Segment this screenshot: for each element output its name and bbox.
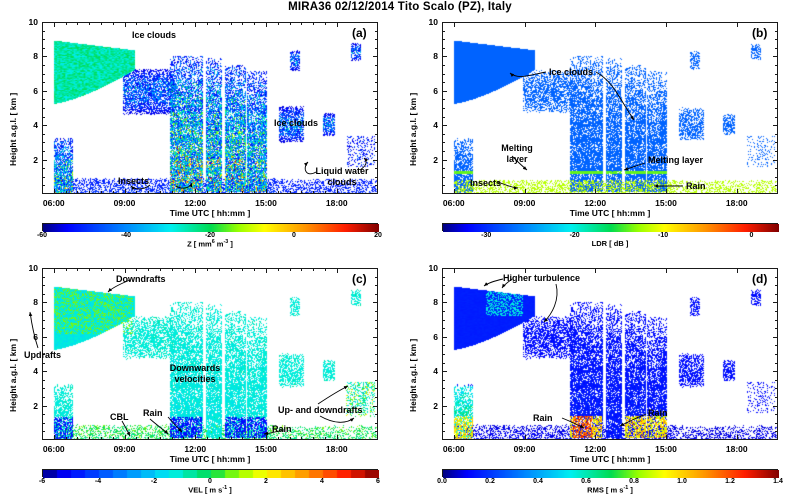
annotation-c-13[interactable]: Rain [143,408,163,419]
panel-a-xminor-top[interactable] [278,22,279,25]
panel-a-xminor-top[interactable] [290,22,291,25]
panel-d-ytick[interactable] [442,302,447,303]
panel-c-xtick[interactable] [54,435,55,440]
panel-a-xminor[interactable] [136,191,137,194]
panel-c-xminor[interactable] [301,437,302,440]
panel-d-ytick-label[interactable]: 2 [418,401,438,411]
panel-d-xtick-top[interactable] [737,268,738,273]
panel-b-xtick-label[interactable]: 15:00 [644,198,688,208]
panel-d-ytick-right[interactable] [773,302,778,303]
panel-b-xtick-top[interactable] [454,22,455,27]
panel-b-yminor-right[interactable] [775,99,778,100]
panel-d-xtick-top[interactable] [454,268,455,273]
panel-d-yminor[interactable] [442,294,445,295]
panel-a-yminor-right[interactable] [375,31,378,32]
panel-c-xminor[interactable] [290,437,291,440]
panel-a-yminor[interactable] [42,142,45,143]
panel-a-yminor[interactable] [42,185,45,186]
panel-b-yminor[interactable] [442,65,445,66]
panel-b-yminor-right[interactable] [775,177,778,178]
panel-d-ytick[interactable] [442,337,447,338]
panel-a-yminor-right[interactable] [375,48,378,49]
panel-c-yminor[interactable] [42,285,45,286]
panel-b-yminor-right[interactable] [775,168,778,169]
panel-b-yminor[interactable] [442,168,445,169]
colorbar-d-tick-label[interactable]: 1.2 [710,478,750,485]
annotation-c-15[interactable]: Up- and downdrafts [278,405,363,416]
panel-c-xtick[interactable] [266,435,267,440]
panel-d-yminor[interactable] [442,328,445,329]
panel-a-xminor[interactable] [254,191,255,194]
annotation-c-14[interactable]: Rain [272,424,292,435]
panel-b-ytick[interactable] [442,125,447,126]
panel-a-xminor[interactable] [101,191,102,194]
panel-b-yminor[interactable] [442,134,445,135]
panel-d-ytick-label[interactable]: 4 [418,366,438,376]
panel-d-yminor-right[interactable] [775,311,778,312]
panel-a-yminor[interactable] [42,177,45,178]
panel-b-xtick[interactable] [595,189,596,194]
panel-d-yminor[interactable] [442,320,445,321]
panel-a-xtick-top[interactable] [54,22,55,27]
panel-d-xtick[interactable] [525,435,526,440]
panel-c-yminor[interactable] [42,431,45,432]
panel-a-xtick[interactable] [337,189,338,194]
panel-d-yminor[interactable] [442,431,445,432]
annotation-b-4[interactable]: Ice clouds [549,67,593,78]
panel-a-yminor[interactable] [42,31,45,32]
panel-a-xminor-top[interactable] [113,22,114,25]
panel-d-yminor[interactable] [442,388,445,389]
panel-a-yminor-right[interactable] [375,134,378,135]
panel-d-ytick-right[interactable] [773,406,778,407]
panel-c-xminor[interactable] [254,437,255,440]
panel-d-xtick-label[interactable]: 12:00 [573,444,617,454]
panel-a-xminor[interactable] [66,191,67,194]
panel-b-xtick-top[interactable] [666,22,667,27]
panel-d-xtick-label[interactable]: 15:00 [644,444,688,454]
panel-c-xminor-top[interactable] [148,268,149,271]
panel-a-xminor[interactable] [172,191,173,194]
panel-a-xminor[interactable] [148,191,149,194]
panel-b-yminor-right[interactable] [775,74,778,75]
panel-d-ytick[interactable] [442,268,447,269]
panel-c-yminor-right[interactable] [375,380,378,381]
panel-d-ytick-label[interactable]: 6 [418,332,438,342]
panel-d-ytick-right[interactable] [773,337,778,338]
panel-d-xtick-top[interactable] [595,268,596,273]
panel-a-yminor[interactable] [42,82,45,83]
panel-b-yminor-right[interactable] [775,151,778,152]
panel-c-xtick[interactable] [125,435,126,440]
panel-c-ytick-label[interactable]: 6 [18,332,38,342]
panel-b-yminor-right[interactable] [775,39,778,40]
panel-a-xminor[interactable] [160,191,161,194]
panel-d-ytick-label[interactable]: 8 [418,297,438,307]
panel-a-ytick-label[interactable]: 8 [18,51,38,61]
panel-d-xtick[interactable] [454,435,455,440]
panel-a-xtick-top[interactable] [125,22,126,27]
panel-a-xtick[interactable] [125,189,126,194]
panel-a-xminor-top[interactable] [207,22,208,25]
panel-c-xtick-label[interactable]: 18:00 [315,444,359,454]
colorbar-c-tick-label[interactable]: 6 [358,478,398,485]
panel-b-yminor[interactable] [442,31,445,32]
panel-c-yminor[interactable] [42,328,45,329]
panel-c-xminor-top[interactable] [77,268,78,271]
panel-b-xtick-top[interactable] [595,22,596,27]
panel-b-xtick-label[interactable]: 09:00 [503,198,547,208]
colorbar-d-tick-label[interactable]: 1.4 [758,478,798,485]
panel-b-ytick[interactable] [442,22,447,23]
panel-d-plot-area[interactable] [442,268,778,440]
panel-b-ytick-label[interactable]: 4 [418,120,438,130]
colorbar-d-tick-label[interactable]: 0.6 [566,478,606,485]
panel-a-xminor-top[interactable] [231,22,232,25]
panel-c-yminor-right[interactable] [375,388,378,389]
panel-c-xminor-top[interactable] [42,268,43,271]
panel-c-xminor-top[interactable] [301,268,302,271]
panel-b-ytick-label[interactable]: 10 [418,17,438,27]
panel-c-xminor[interactable] [313,437,314,440]
panel-c-yminor-right[interactable] [375,431,378,432]
panel-a-yminor[interactable] [42,151,45,152]
panel-c-ytick-right[interactable] [373,302,378,303]
annotation-b-7[interactable]: Melting layer [648,155,703,166]
colorbar-d-tick-label[interactable]: 0.0 [422,478,462,485]
panel-a-yminor[interactable] [42,99,45,100]
panel-c-ytick-right[interactable] [373,337,378,338]
colorbar-b-tick-label[interactable]: -30 [466,232,506,239]
annotation-c-10[interactable]: Updrafts [24,350,61,361]
annotation-c-9[interactable]: Downdrafts [116,274,166,285]
panel-b-yminor[interactable] [442,74,445,75]
panel-c-xminor-top[interactable] [231,268,232,271]
panel-a-yminor-right[interactable] [375,39,378,40]
panel-b-ytick-right[interactable] [773,160,778,161]
panel-a-yminor-right[interactable] [375,151,378,152]
panel-c-yminor-right[interactable] [375,285,378,286]
panel-a-xtick[interactable] [195,189,196,194]
panel-d-yminor-right[interactable] [775,320,778,321]
colorbar-a-tick-label[interactable]: -40 [106,232,146,239]
panel-a-yminor-right[interactable] [375,99,378,100]
panel-a-xminor-top[interactable] [160,22,161,25]
panel-d-yminor[interactable] [442,414,445,415]
panel-c-yminor-right[interactable] [375,294,378,295]
panel-c-yminor[interactable] [42,320,45,321]
panel-c-xminor[interactable] [136,437,137,440]
panel-d-yminor-right[interactable] [775,414,778,415]
panel-b-ytick-label[interactable]: 2 [418,155,438,165]
panel-d-yminor[interactable] [442,285,445,286]
panel-c-xminor-top[interactable] [219,268,220,271]
panel-b-yminor-right[interactable] [775,31,778,32]
panel-c-xminor[interactable] [66,437,67,440]
panel-a-xtick-label[interactable]: 15:00 [244,198,288,208]
annotation-a-3[interactable]: Liquid water clouds [312,166,372,188]
panel-a-xminor[interactable] [242,191,243,194]
panel-b-yminor[interactable] [442,151,445,152]
panel-a-xminor-top[interactable] [42,22,43,25]
panel-a-xtick-label[interactable]: 09:00 [103,198,147,208]
colorbar-c-tick-label[interactable]: 2 [246,478,286,485]
panel-c-xminor-top[interactable] [254,268,255,271]
panel-d-yminor[interactable] [442,397,445,398]
panel-b-ytick-right[interactable] [773,22,778,23]
panel-c-xminor-top[interactable] [101,268,102,271]
panel-b-yminor[interactable] [442,99,445,100]
panel-a-yminor[interactable] [42,65,45,66]
panel-a-xminor-top[interactable] [219,22,220,25]
colorbar-c-tick-label[interactable]: 4 [302,478,342,485]
panel-c-xminor[interactable] [172,437,173,440]
panel-b-ytick-label[interactable]: 6 [418,86,438,96]
panel-d-yminor[interactable] [442,363,445,364]
panel-d-yminor-right[interactable] [775,345,778,346]
panel-c-yminor[interactable] [42,311,45,312]
panel-c-xminor-top[interactable] [66,268,67,271]
panel-a-yminor-right[interactable] [375,177,378,178]
panel-c-xminor-top[interactable] [136,268,137,271]
annotation-d-18[interactable]: Rain [648,408,668,419]
panel-a-ytick[interactable] [42,160,47,161]
panel-b-ytick-right[interactable] [773,125,778,126]
panel-a-xminor[interactable] [325,191,326,194]
panel-c-xminor[interactable] [231,437,232,440]
panel-c-xminor-top[interactable] [290,268,291,271]
panel-a-ytick[interactable] [42,56,47,57]
colorbar-c-tick-label[interactable]: -4 [78,478,118,485]
panel-b-plot-area[interactable] [442,22,778,194]
panel-a-xminor-top[interactable] [136,22,137,25]
panel-d-ytick[interactable] [442,406,447,407]
panel-a-yminor[interactable] [42,117,45,118]
panel-b-ytick[interactable] [442,56,447,57]
panel-a-yminor-right[interactable] [375,65,378,66]
panel-a-ytick-right[interactable] [373,125,378,126]
panel-c-xminor[interactable] [160,437,161,440]
panel-b-xtick[interactable] [525,189,526,194]
panel-a-xminor-top[interactable] [101,22,102,25]
panel-c-xtick-top[interactable] [125,268,126,273]
panel-a-ytick-label[interactable]: 2 [18,155,38,165]
panel-c-ytick[interactable] [42,302,47,303]
panel-c-xminor-top[interactable] [183,268,184,271]
annotation-d-17[interactable]: Rain [533,413,553,424]
panel-c-xminor[interactable] [89,437,90,440]
annotation-a-0[interactable]: Ice clouds [132,30,176,41]
annotation-b-6[interactable]: Insects [470,178,501,189]
panel-c-xminor-top[interactable] [160,268,161,271]
panel-a-xminor[interactable] [207,191,208,194]
panel-a-xminor[interactable] [290,191,291,194]
panel-b-yminor[interactable] [442,82,445,83]
panel-a-yminor-right[interactable] [375,142,378,143]
panel-d-ytick[interactable] [442,371,447,372]
panel-d-xtick-label[interactable]: 06:00 [432,444,476,454]
panel-c-xminor-top[interactable] [313,268,314,271]
panel-b-xtick-label[interactable]: 18:00 [715,198,759,208]
panel-c-ytick-label[interactable]: 8 [18,297,38,307]
panel-a-ytick[interactable] [42,91,47,92]
panel-d-ytick-right[interactable] [773,371,778,372]
panel-d-xtick[interactable] [666,435,667,440]
panel-c-yminor-right[interactable] [375,354,378,355]
panel-d-yminor-right[interactable] [775,354,778,355]
panel-c-ytick-right[interactable] [373,268,378,269]
panel-d-xtick[interactable] [595,435,596,440]
panel-a-xminor[interactable] [77,191,78,194]
panel-c-xminor[interactable] [183,437,184,440]
panel-c-yminor[interactable] [42,363,45,364]
panel-a-xminor-top[interactable] [89,22,90,25]
annotation-a-2[interactable]: Ice clouds [274,118,318,129]
colorbar-a-tick-label[interactable]: 20 [358,232,398,239]
panel-c-ytick[interactable] [42,371,47,372]
panel-a-xtick-label[interactable]: 06:00 [32,198,76,208]
colorbar-d-tick-label[interactable]: 0.8 [614,478,654,485]
panel-c-yminor[interactable] [42,414,45,415]
panel-c-xminor[interactable] [278,437,279,440]
panel-c-yminor[interactable] [42,388,45,389]
panel-c-yminor-right[interactable] [375,423,378,424]
panel-a-xtick[interactable] [54,189,55,194]
panel-d-xtick-label[interactable]: 09:00 [503,444,547,454]
panel-c-yminor-right[interactable] [375,328,378,329]
annotation-b-8[interactable]: Rain [686,181,706,192]
panel-d-yminor[interactable] [442,277,445,278]
panel-a-xminor-top[interactable] [242,22,243,25]
panel-a-xminor-top[interactable] [301,22,302,25]
panel-b-ytick-label[interactable]: 8 [418,51,438,61]
panel-a-xminor-top[interactable] [313,22,314,25]
panel-d-yminor-right[interactable] [775,423,778,424]
panel-b-xtick[interactable] [737,189,738,194]
panel-c-xminor-top[interactable] [325,268,326,271]
panel-c-xtick-top[interactable] [266,268,267,273]
panel-c-ytick[interactable] [42,406,47,407]
panel-c-xminor-top[interactable] [113,268,114,271]
annotation-d-16[interactable]: Higher turbulence [503,273,580,284]
panel-c-yminor-right[interactable] [375,345,378,346]
panel-c-yminor[interactable] [42,423,45,424]
panel-c-yminor-right[interactable] [375,397,378,398]
annotation-c-11[interactable]: Downwards velocities [163,363,227,385]
panel-d-yminor-right[interactable] [775,363,778,364]
panel-b-xtick-label[interactable]: 12:00 [573,198,617,208]
panel-d-yminor[interactable] [442,380,445,381]
panel-a-ytick-label[interactable]: 10 [18,17,38,27]
panel-c-yminor[interactable] [42,345,45,346]
panel-a-yminor[interactable] [42,168,45,169]
panel-a-xminor[interactable] [113,191,114,194]
panel-b-yminor[interactable] [442,142,445,143]
panel-a-yminor-right[interactable] [375,74,378,75]
panel-b-yminor-right[interactable] [775,82,778,83]
panel-c-xminor[interactable] [242,437,243,440]
panel-a-xminor-top[interactable] [254,22,255,25]
panel-c-yminor[interactable] [42,294,45,295]
panel-a-yminor[interactable] [42,74,45,75]
panel-c-ytick-label[interactable]: 4 [18,366,38,376]
panel-b-ytick-right[interactable] [773,56,778,57]
panel-a-ytick-label[interactable]: 6 [18,86,38,96]
panel-c-xminor[interactable] [101,437,102,440]
panel-d-yminor-right[interactable] [775,294,778,295]
colorbar-b-tick-label[interactable]: 0 [731,232,771,239]
panel-d-xtick[interactable] [737,435,738,440]
panel-c-yminor-right[interactable] [375,277,378,278]
colorbar-a-tick-label[interactable]: 0 [274,232,314,239]
panel-a-xminor[interactable] [89,191,90,194]
panel-c-xminor-top[interactable] [89,268,90,271]
panel-d-yminor-right[interactable] [775,285,778,286]
panel-a-xminor[interactable] [278,191,279,194]
panel-b-xtick[interactable] [454,189,455,194]
panel-d-yminor[interactable] [442,345,445,346]
panel-c-yminor-right[interactable] [375,311,378,312]
panel-b-yminor[interactable] [442,185,445,186]
panel-c-xtick-label[interactable]: 12:00 [173,444,217,454]
panel-a-xminor-top[interactable] [172,22,173,25]
panel-d-yminor-right[interactable] [775,277,778,278]
colorbar-d-tick-label[interactable]: 0.2 [470,478,510,485]
panel-b-yminor[interactable] [442,177,445,178]
panel-a-yminor[interactable] [42,48,45,49]
panel-b-xtick-top[interactable] [737,22,738,27]
panel-b-yminor[interactable] [442,117,445,118]
colorbar-b-tick-label[interactable]: -10 [643,232,683,239]
panel-b-ytick-right[interactable] [773,91,778,92]
panel-a-ytick-right[interactable] [373,22,378,23]
panel-a-ytick-label[interactable]: 4 [18,120,38,130]
panel-d-xtick-label[interactable]: 18:00 [715,444,759,454]
panel-c-xminor[interactable] [325,437,326,440]
panel-a-ytick-right[interactable] [373,91,378,92]
panel-c-xtick-top[interactable] [195,268,196,273]
panel-b-yminor-right[interactable] [775,142,778,143]
panel-a-ytick[interactable] [42,125,47,126]
colorbar-d-tick-label[interactable]: 1.0 [662,478,702,485]
panel-b-ytick[interactable] [442,160,447,161]
colorbar-a-tick-label[interactable]: -20 [190,232,230,239]
panel-a-xminor-top[interactable] [325,22,326,25]
panel-a-xtick-label[interactable]: 18:00 [315,198,359,208]
panel-a-ytick-right[interactable] [373,160,378,161]
panel-c-yminor[interactable] [42,380,45,381]
panel-c-yminor-right[interactable] [375,363,378,364]
panel-b-yminor-right[interactable] [775,108,778,109]
panel-a-yminor[interactable] [42,108,45,109]
panel-a-xtick-top[interactable] [195,22,196,27]
panel-b-xtick-top[interactable] [525,22,526,27]
panel-c-xtick-label[interactable]: 09:00 [103,444,147,454]
panel-a-yminor-right[interactable] [375,82,378,83]
panel-b-yminor-right[interactable] [775,48,778,49]
panel-a-xminor[interactable] [301,191,302,194]
colorbar-c-tick-label[interactable]: 0 [190,478,230,485]
panel-d-yminor-right[interactable] [775,380,778,381]
panel-d-yminor[interactable] [442,423,445,424]
panel-c-xminor-top[interactable] [278,268,279,271]
panel-c-ytick-label[interactable]: 10 [18,263,38,273]
panel-a-yminor-right[interactable] [375,108,378,109]
panel-b-yminor[interactable] [442,48,445,49]
panel-b-xtick[interactable] [666,189,667,194]
panel-d-ytick-label[interactable]: 10 [418,263,438,273]
panel-c-xminor[interactable] [148,437,149,440]
